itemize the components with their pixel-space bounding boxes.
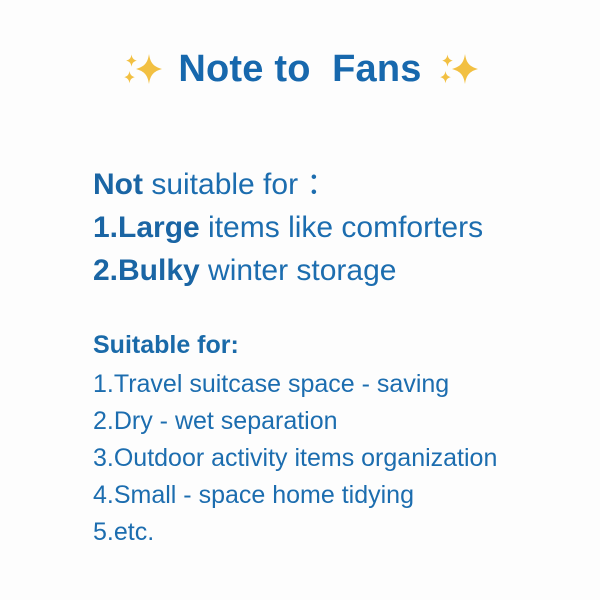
not-suitable-item-1: 1.Large items like comforters: [93, 206, 573, 249]
suitable-heading: Suitable for:: [93, 328, 573, 362]
not-suitable-item-1-rest: items like comforters: [200, 211, 483, 244]
suitable-item-3: 3.Outdoor activity items organization: [93, 440, 573, 477]
suitable-item-2: 2.Dry - wet separation: [93, 403, 573, 440]
not-suitable-item-1-emphasis: 1.Large: [93, 211, 200, 244]
title-row: Note to Fans: [0, 48, 600, 92]
sparkles-icon: [436, 48, 480, 92]
suitable-section: Suitable for: 1.Travel suitcase space - …: [93, 328, 573, 551]
not-suitable-item-2-emphasis: 2.Bulky: [93, 254, 200, 287]
suitable-item-1: 1.Travel suitcase space - saving: [93, 366, 573, 403]
not-suitable-section: Not suitable for ： 1.Large items like co…: [93, 163, 573, 292]
not-suitable-heading: Not suitable for ：: [93, 163, 573, 206]
not-suitable-heading-emphasis: Not: [93, 168, 143, 201]
suitable-item-5: 5.etc.: [93, 514, 573, 551]
note-to-fans-poster: Note to Fans Not suitable for ： 1.Large …: [0, 0, 600, 600]
not-suitable-heading-rest: suitable for ：: [143, 168, 336, 201]
suitable-item-4: 4.Small - space home tidying: [93, 477, 573, 514]
sparkles-icon: [120, 48, 164, 92]
page-title: Note to Fans: [178, 49, 421, 91]
not-suitable-item-2: 2.Bulky winter storage: [93, 249, 573, 292]
not-suitable-item-2-rest: winter storage: [200, 254, 397, 287]
